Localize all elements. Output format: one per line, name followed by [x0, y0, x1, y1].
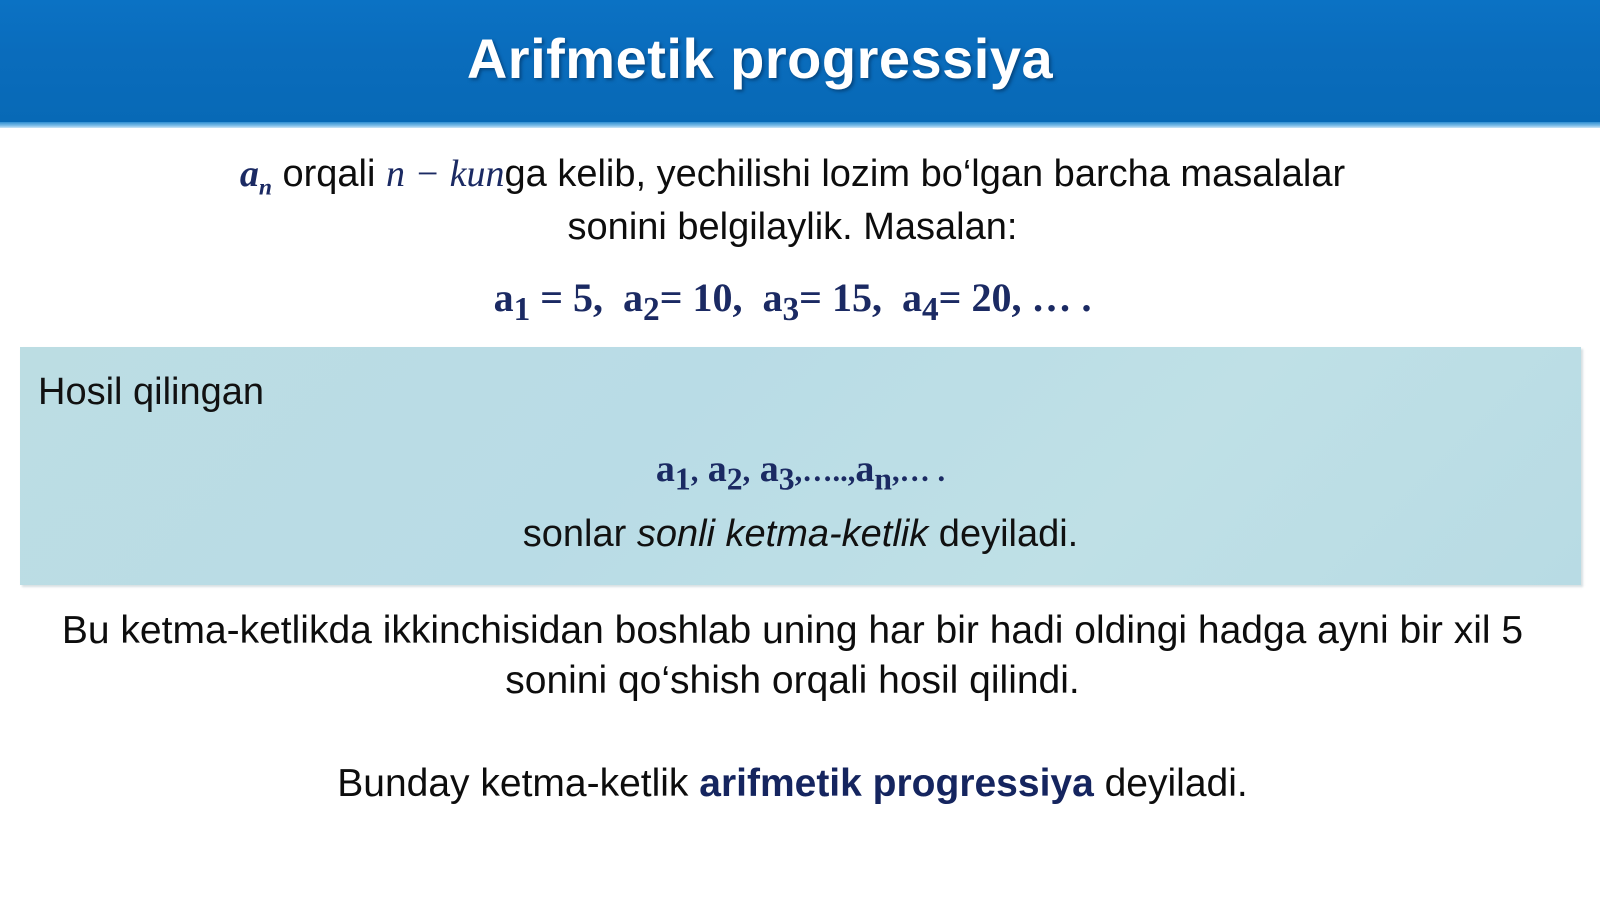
example-values-line: a1 = 5, a2= 10, a3= 15, a4= 20, … . — [20, 274, 1565, 329]
definition-highlight-box: Hosil qilingan a1, a2, a3,…..,an,… . son… — [20, 347, 1581, 585]
example-term-3: a3= 15, — [763, 275, 882, 320]
definition-caption: sonlar sonli ketma-ketlik deyiladi. — [20, 513, 1581, 556]
intro-text-before: orqali — [272, 153, 386, 195]
example-term-2-symbol: a — [623, 275, 643, 320]
seq-term-2: a — [708, 448, 727, 490]
seq-term-n-sub: n — [874, 462, 892, 497]
definition-sequence-line: a1, a2, a3,…..,an,… . — [20, 447, 1581, 498]
example-term-1-sep: , — [593, 275, 603, 320]
definition-caption-before: sonlar — [523, 513, 637, 555]
explanation-paragraph: Bu ketma-ketlikda ikkinchisidan boshlab … — [40, 606, 1545, 706]
seq-term-2-sub: 2 — [727, 462, 743, 497]
conclusion-term: arifmetik progressiya — [699, 762, 1094, 805]
example-term-2-sep: , — [733, 275, 743, 320]
conclusion-after: deyiladi. — [1094, 762, 1248, 805]
example-term-4: a4= 20, — [902, 275, 1021, 320]
example-term-2-sub: 2 — [643, 291, 660, 328]
seq-tail: ,… . — [892, 454, 945, 488]
math-expr-n-minus-kun: n − kun — [386, 153, 505, 195]
example-term-4-value: 20 — [971, 275, 1011, 320]
definition-caption-after: deyiladi. — [928, 513, 1078, 555]
math-symbol-an-base: a — [240, 153, 259, 195]
example-term-2-value: 10 — [693, 275, 733, 320]
example-term-4-eq: = — [939, 275, 962, 320]
definition-caption-term: sonli ketma-ketlik — [637, 513, 928, 555]
seq-term-3-sub: 3 — [779, 462, 795, 497]
conclusion-before: Bunday ketma-ketlik — [337, 762, 699, 805]
conclusion-paragraph: Bunday ketma-ketlik arifmetik progressiy… — [40, 762, 1545, 806]
math-symbol-an: an — [240, 153, 272, 195]
definition-heading: Hosil qilingan — [38, 371, 264, 414]
example-term-3-value: 15 — [832, 275, 872, 320]
example-term-3-sub: 3 — [783, 291, 800, 328]
intro-paragraph: an orqali n − kunga kelib, yechilishi lo… — [20, 150, 1565, 253]
example-term-1-symbol: a — [494, 275, 514, 320]
example-term-1-eq: = — [540, 275, 563, 320]
example-term-2-eq: = — [660, 275, 683, 320]
example-term-1: a1 = 5, — [494, 275, 603, 320]
example-term-1-sub: 1 — [514, 291, 531, 328]
intro-paragraph-line2: sonini belgilaylik. Masalan: — [20, 203, 1565, 252]
example-term-3-sep: , — [872, 275, 882, 320]
math-symbol-an-sub: n — [259, 175, 272, 201]
seq-term-n: a — [855, 448, 874, 490]
seq-term-3: a — [760, 448, 779, 490]
seq-term-1-sub: 1 — [675, 462, 691, 497]
explanation-line-1: Bu ketma-ketlikda ikkinchisidan boshlab … — [62, 609, 1187, 652]
intro-text-after: ga kelib, yechilishi lozim bo‘lgan barch… — [505, 153, 1346, 195]
example-term-4-sub: 4 — [922, 291, 939, 328]
example-term-4-sep: , — [1011, 275, 1021, 320]
example-term-4-symbol: a — [902, 275, 922, 320]
example-term-3-eq: = — [799, 275, 822, 320]
slide-body: an orqali n − kunga kelib, yechilishi lo… — [0, 128, 1600, 900]
example-term-2: a2= 10, — [623, 275, 742, 320]
example-tail-ellipsis: … . — [1031, 275, 1091, 320]
seq-term-1: a — [656, 448, 675, 490]
seq-dots-1: ,….., — [795, 454, 856, 488]
slide-root: Arifmetik progressiya an orqali n − kung… — [0, 0, 1600, 900]
example-term-3-symbol: a — [763, 275, 783, 320]
example-term-1-value: 5 — [573, 275, 593, 320]
page-title: Arifmetik progressiya — [0, 26, 1520, 91]
